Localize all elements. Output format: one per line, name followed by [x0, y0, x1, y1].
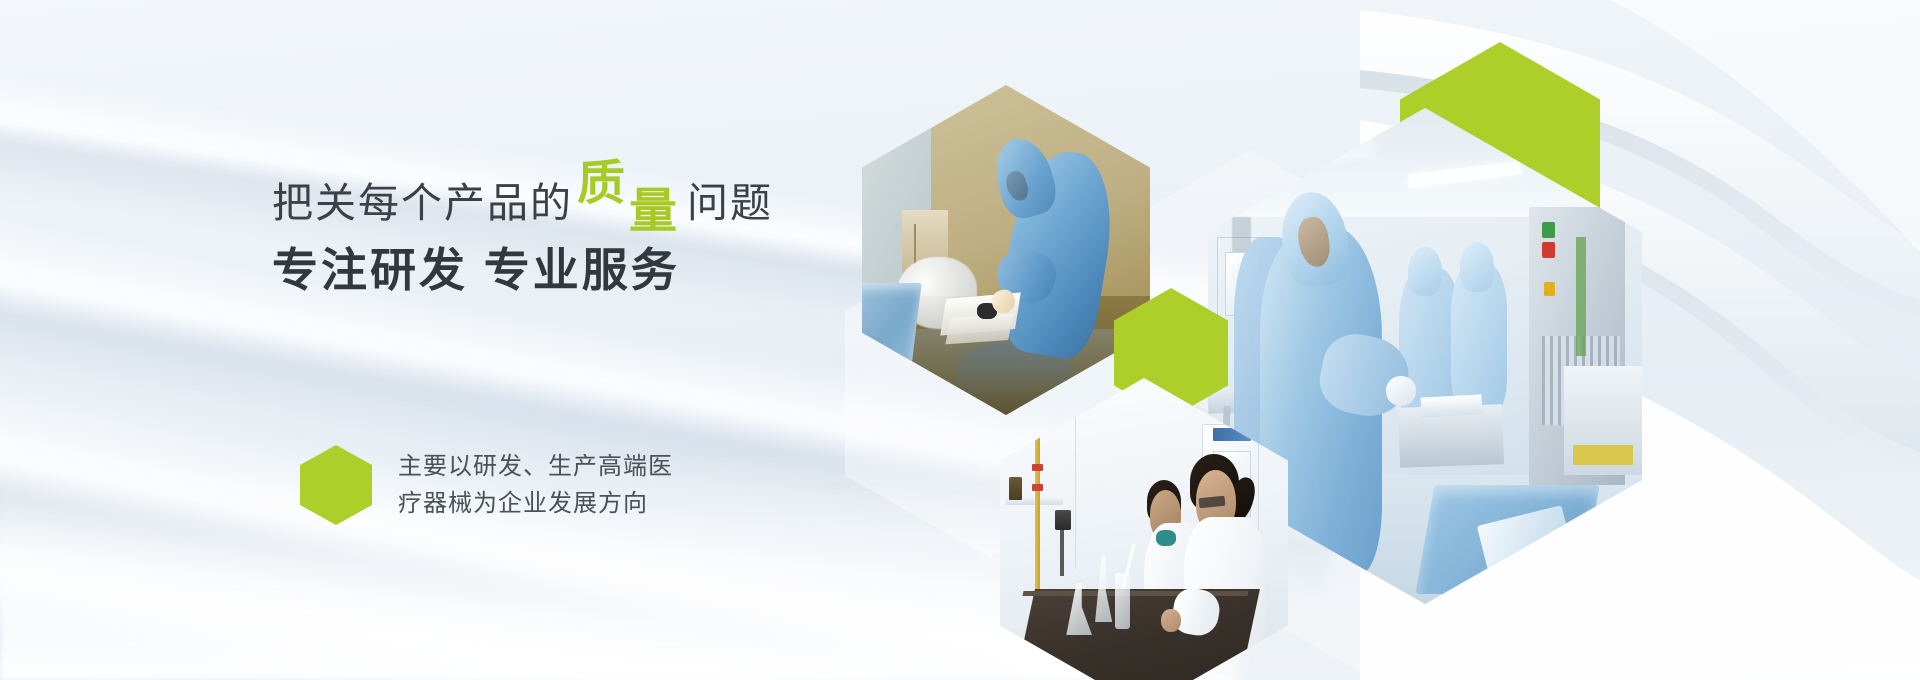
banner-text-block: 把关每个产品的 质 量 问题 专注研发 专业服务 — [272, 176, 832, 294]
headline-line-1: 把关每个产品的 质 量 问题 — [272, 176, 832, 224]
subtitle-row: 主要以研发、生产高端医 疗器械为企业发展方向 — [300, 445, 673, 525]
headline-suffix-text: 问题 — [687, 183, 773, 224]
hexagon-bullet-icon — [300, 445, 372, 525]
subtitle-line-2: 疗器械为企业发展方向 — [398, 485, 673, 522]
headline-accent-char-1: 质 — [577, 160, 627, 208]
headline-line-2: 专注研发 专业服务 — [272, 246, 832, 294]
headline-accent-char-2: 量 — [629, 188, 679, 236]
subtitle-line-1: 主要以研发、生产高端医 — [398, 448, 673, 485]
hero-banner: 把关每个产品的 质 量 问题 专注研发 专业服务 主要以研发、生产高端医 疗器械… — [0, 0, 1920, 680]
subtitle-text: 主要以研发、生产高端医 疗器械为企业发展方向 — [398, 448, 673, 522]
headline-prefix-text: 把关每个产品的 — [272, 183, 573, 224]
